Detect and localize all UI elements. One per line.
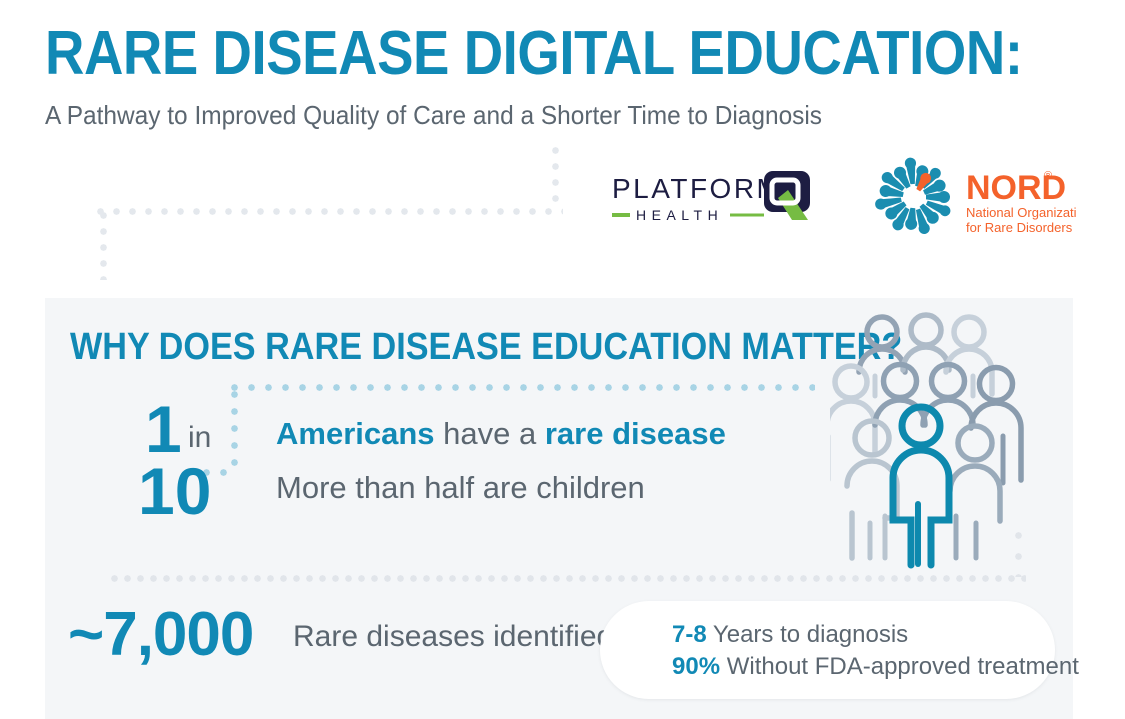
nord-tagline-line-1: National Organization (966, 205, 1076, 220)
stat-divider-dots-top (231, 384, 815, 391)
section-heading: WHY DOES RARE DISEASE EDUCATION MATTER? (70, 325, 902, 369)
stat-middle-text: have a (435, 416, 545, 451)
header: RARE DISEASE DIGITAL EDUCATION: A Pathwa… (0, 0, 1125, 298)
section-divider-dots (111, 575, 1026, 582)
person-figure (875, 365, 925, 426)
big-number-label: Rare diseases identified (293, 617, 613, 657)
platformq-health-logo: PLATFORM HEALTH (612, 168, 817, 223)
nord-logo: NORD ® National Organization for Rare Di… (866, 155, 1076, 240)
fact-percent-label: Without FDA-approved treatment (720, 653, 1079, 680)
fraction-numerator: 1 (145, 396, 182, 462)
nord-registered-mark: ® (1044, 170, 1052, 182)
fact-years-value: 7-8 (672, 621, 707, 648)
people-crowd-icon (830, 308, 1040, 570)
nord-tagline-line-2: for Rare Disorders (966, 220, 1073, 235)
decorative-dots-vertical-right (552, 147, 559, 211)
person-figure (950, 426, 1000, 558)
person-figure (903, 315, 949, 370)
fact-years-to-diagnosis: 7-8 Years to diagnosis (672, 619, 908, 651)
person-figure-highlighted (893, 407, 949, 565)
fraction-connector: in (188, 423, 211, 453)
fraction-denominator: 10 (138, 458, 211, 524)
decorative-dots-horizontal (97, 208, 563, 215)
stat-line-americans: Americans have a rare disease (276, 414, 726, 454)
why-matters-panel: WHY DOES RARE DISEASE EDUCATION MATTER? … (45, 298, 1073, 719)
fact-no-treatment: 90% Without FDA-approved treatment (672, 651, 1079, 683)
facts-pill: 7-8 Years to diagnosis 90% Without FDA-a… (600, 601, 1055, 699)
page-title: RARE DISEASE DIGITAL EDUCATION: (45, 18, 1023, 90)
decorative-dots-people-right (1015, 532, 1022, 577)
person-figure (946, 317, 992, 394)
stat-line-children: More than half are children (276, 468, 645, 508)
stat-bold-americans: Americans (276, 416, 435, 451)
stat-bold-rare-disease: rare disease (545, 416, 726, 451)
platformq-wordmark-text: PLATFORM (612, 173, 782, 204)
page-subtitle: A Pathway to Improved Quality of Care an… (45, 98, 822, 132)
big-number-7000: ~7,000 (68, 600, 253, 670)
decorative-dots-vertical-left (100, 212, 107, 280)
fraction-one-in-ten: 1 in 10 (100, 396, 240, 536)
nord-burst-icon (874, 157, 952, 235)
fact-years-label: Years to diagnosis (707, 621, 908, 648)
platformq-subword-text: HEALTH (636, 207, 723, 223)
fact-percent-value: 90% (672, 653, 720, 680)
